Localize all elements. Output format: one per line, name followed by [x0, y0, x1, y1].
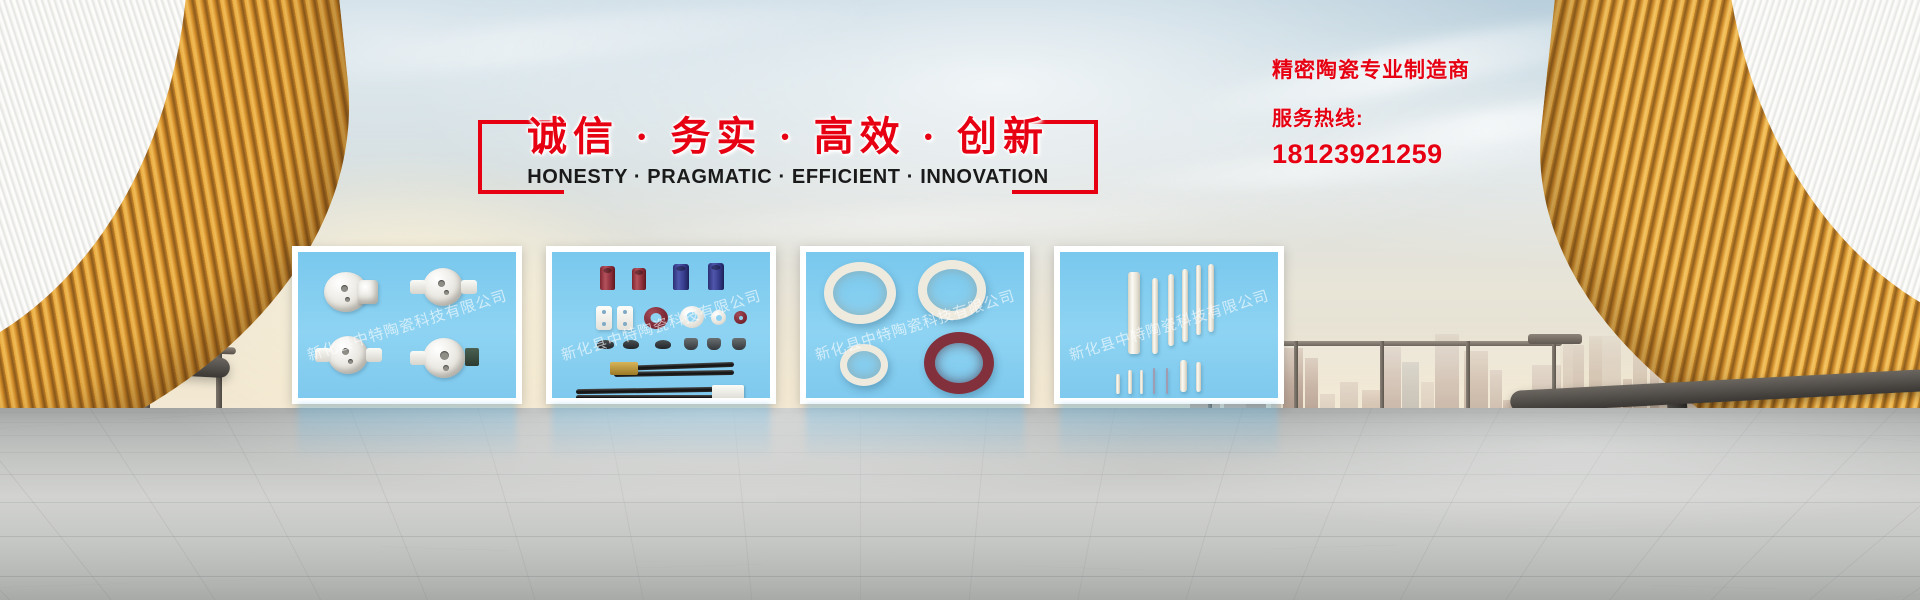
floor-tile-line	[0, 576, 1920, 577]
floor-tile-line	[1505, 408, 1631, 600]
contact-block: 精密陶瓷专业制造商 服务热线: 18123921259	[1272, 54, 1602, 170]
floor-tile-line	[733, 408, 753, 600]
hotline-number[interactable]: 18123921259	[1272, 139, 1602, 170]
floor-tile-line	[1902, 408, 1920, 600]
floor-tile-line	[0, 422, 1920, 423]
slogan-english: HONESTY · PRAGMATIC · EFFICIENT · INNOVA…	[478, 166, 1098, 189]
floor-tile-line	[0, 435, 1920, 436]
panel-image-area: 新化县中特陶瓷科技有限公司	[298, 252, 516, 398]
product-panel-ceramic-rods[interactable]: 新化县中特陶瓷科技有限公司	[1054, 246, 1284, 404]
floor-tile-line	[969, 408, 989, 600]
floor-tile-line	[0, 474, 1920, 475]
floor-tile-line	[1400, 408, 1501, 600]
floor-tile-line	[1876, 408, 1920, 600]
terrace-floor	[0, 408, 1920, 600]
floor-tile-line	[1077, 408, 1115, 600]
panel-image-area: 新化县中特陶瓷科技有限公司	[1060, 252, 1278, 398]
floor-tile-line	[605, 408, 643, 600]
floor-tile-line	[349, 408, 428, 600]
panel-image-area: 新化县中特陶瓷科技有限公司	[806, 252, 1024, 398]
floor-tile-line	[0, 536, 1920, 537]
floor-tile-line	[0, 412, 1920, 413]
product-panel-ceramic-rings[interactable]: 新化县中特陶瓷科技有限公司	[800, 246, 1030, 404]
floor-tile-line	[0, 452, 1920, 453]
bracket-segment	[1012, 190, 1098, 194]
company-tagline: 精密陶瓷专业制造商	[1272, 54, 1602, 84]
floor-tile-line	[0, 408, 308, 600]
floor-tile-line	[89, 408, 215, 600]
hotline-label: 服务热线:	[1272, 102, 1602, 131]
floor-tile-line	[220, 408, 321, 600]
floor-tile-line	[1609, 408, 1763, 600]
product-panel-row: 新化县中特陶瓷科技有限公司	[292, 246, 1482, 404]
panel-image-area: 新化县中特陶瓷科技有限公司	[552, 252, 770, 398]
floor-tile-line	[1413, 408, 1920, 600]
headline-block: 诚信 · 务实 · 高效 · 创新 HONESTY · PRAGMATIC · …	[478, 108, 1098, 204]
bracket-segment	[478, 190, 564, 194]
floor-tile-line	[0, 408, 112, 600]
floor-tile-line	[860, 408, 861, 600]
product-panel-ceramic-lamp-holders[interactable]: 新化县中特陶瓷科技有限公司	[292, 246, 522, 404]
hero-banner: 诚信 · 务实 · 高效 · 创新 HONESTY · PRAGMATIC · …	[0, 0, 1920, 600]
floor-tile-line	[0, 408, 10, 600]
slogan-chinese: 诚信 · 务实 · 高效 · 创新	[478, 104, 1098, 162]
floor-tile-line	[1293, 408, 1372, 600]
product-panel-ceramic-insulator-parts[interactable]: 新化县中特陶瓷科技有限公司	[546, 246, 776, 404]
floor-tile-line	[0, 502, 1920, 503]
